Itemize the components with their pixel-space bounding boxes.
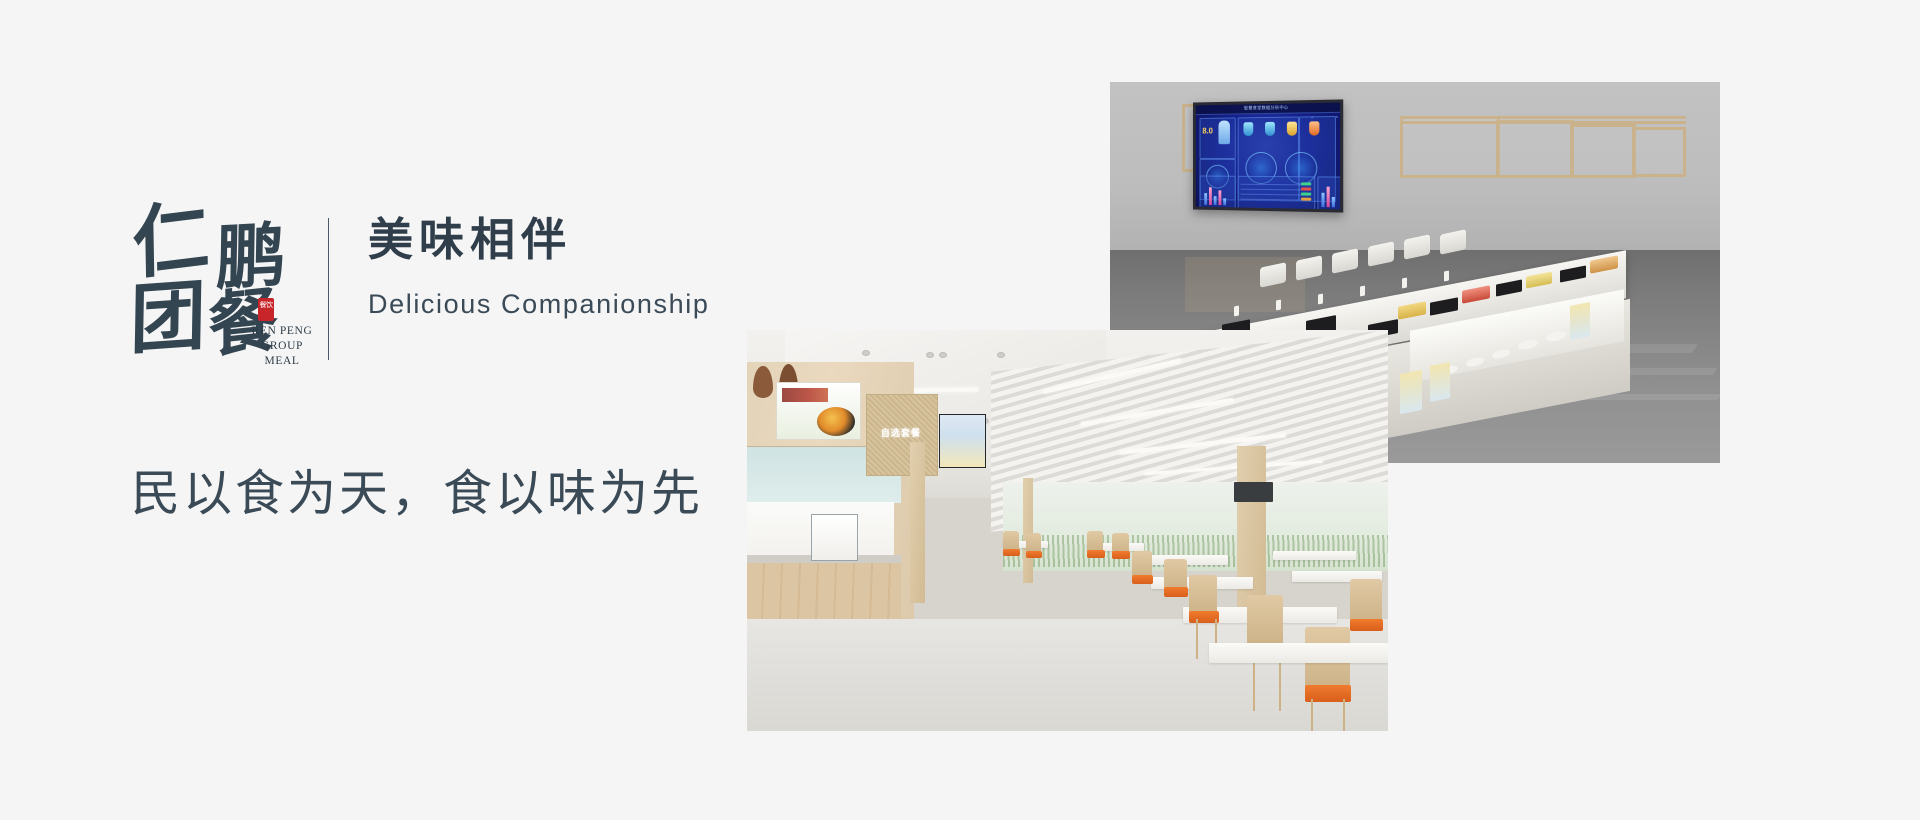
dining-chair-seat (1026, 551, 1043, 558)
wood-rail-segment (1400, 116, 1500, 178)
ceiling-downlight (997, 352, 1005, 358)
dining-chair-leg (1196, 619, 1198, 659)
brand-block: 仁 鹏 团 餐 餐饮 REN PENG GROUP MEAL 美味相伴 Deli… (130, 196, 720, 376)
wood-rail-segment (1632, 127, 1686, 177)
counter-graphic-panel (1570, 302, 1590, 340)
logo-char-tuan: 团 (129, 277, 206, 359)
dashboard-spacer (1336, 116, 1338, 118)
dashboard-status-chip (1301, 192, 1311, 195)
dashboard-bar (1321, 193, 1324, 207)
dining-chair-back (1247, 595, 1283, 647)
brand-slogan-group: 美味相伴 Delicious Companionship (368, 208, 728, 324)
counter-graphic-panel (1400, 370, 1422, 414)
logo-en-line-1: REN PENG (246, 324, 318, 339)
dining-chair-seat (1164, 587, 1188, 597)
wood-rail-segment (1570, 124, 1636, 178)
wall-decor-leaf (753, 366, 772, 398)
page-headline: 民以食为天，食以味为先 (131, 464, 703, 524)
price-tag-screen (1276, 300, 1281, 311)
dashboard-pod-4 (1309, 121, 1319, 135)
dining-chair-back (1189, 575, 1217, 615)
dashboard-pod-2 (1265, 122, 1275, 136)
menu-poster-sign (776, 382, 861, 440)
dashboard-bar (1327, 187, 1330, 208)
dashboard-bar (1332, 197, 1335, 207)
brand-slogan-en: Delicious Companionship (368, 284, 728, 324)
cafeteria-interior-render: 自选套餐 (747, 330, 1388, 731)
dining-chair-seat (1112, 551, 1130, 559)
dining-table-front (1209, 643, 1388, 663)
dining-chair-leg (1279, 655, 1281, 711)
dining-chair-back (1164, 559, 1187, 591)
dashboard-display-screen: 智慧食堂数据分析中心 8.0 (1193, 99, 1343, 212)
dashboard-status-chip (1301, 182, 1311, 185)
digital-menu-screen (939, 414, 986, 468)
brand-slogan-cn: 美味相伴 (368, 208, 728, 272)
price-tag-screen (1402, 278, 1407, 289)
dining-chair-back (1350, 579, 1382, 623)
wood-pillar (1023, 478, 1033, 582)
price-tag-screen (1444, 271, 1449, 282)
dining-chair-leg (1311, 699, 1313, 731)
dining-chair-seat (1087, 550, 1105, 558)
poster-dish-photo (817, 407, 855, 436)
hero-banner: 仁 鹏 团 餐 餐饮 REN PENG GROUP MEAL 美味相伴 Deli… (0, 0, 1920, 820)
wood-rail-segment (1496, 120, 1574, 178)
counter-notice-frame (811, 514, 858, 560)
logo-en-line-2: GROUP (246, 339, 318, 354)
dining-chair-seat (1132, 575, 1154, 585)
dining-chair-leg (1343, 699, 1345, 731)
dashboard-bar (1214, 196, 1217, 205)
price-tag-screen (1360, 286, 1365, 297)
poster-title-text (782, 388, 828, 401)
dashboard-bar (1223, 198, 1226, 205)
dining-chair-seat (1350, 619, 1383, 631)
dining-chair-back (1087, 531, 1104, 553)
dashboard-avatar-icon (1218, 120, 1229, 144)
price-tag-screen (1318, 294, 1323, 305)
price-tag-screen (1234, 306, 1239, 317)
dining-chair-seat (1003, 549, 1020, 556)
wood-rail-top-beam (1400, 116, 1686, 124)
dashboard-pod-1 (1243, 122, 1253, 136)
brand-logo: 仁 鹏 团 餐 餐饮 REN PENG GROUP MEAL (130, 196, 314, 368)
dashboard-bar (1218, 190, 1221, 205)
dashboard-bar (1204, 193, 1207, 205)
dining-chair-leg (1253, 655, 1255, 711)
dining-table (1273, 551, 1356, 561)
cafeteria-floor (747, 619, 1388, 731)
banner-text: 自选套餐 (866, 426, 937, 439)
dashboard-spacer-2 (1311, 116, 1313, 118)
logo-english-name: REN PENG GROUP MEAL (246, 324, 318, 369)
dashboard-screen-content: 智慧食堂数据分析中心 8.0 (1196, 103, 1340, 210)
rail-reflection (1185, 257, 1305, 312)
wood-pillar (910, 442, 924, 602)
logo-en-line-3: MEAL (246, 354, 318, 369)
dashboard-status-chip (1301, 187, 1311, 190)
red-seal-stamp-icon: 餐饮 (258, 298, 274, 321)
hanging-tv-screen (1234, 482, 1272, 502)
counter-graphic-panel (1430, 362, 1450, 402)
dashboard-score: 8.0 (1202, 127, 1213, 136)
dashboard-status-chip (1301, 198, 1311, 201)
brand-vertical-divider (328, 218, 329, 360)
dining-chair-back (1003, 531, 1018, 551)
dashboard-bar (1209, 187, 1212, 205)
dining-chair-back (1026, 533, 1041, 553)
dashboard-pod-3 (1287, 122, 1297, 136)
